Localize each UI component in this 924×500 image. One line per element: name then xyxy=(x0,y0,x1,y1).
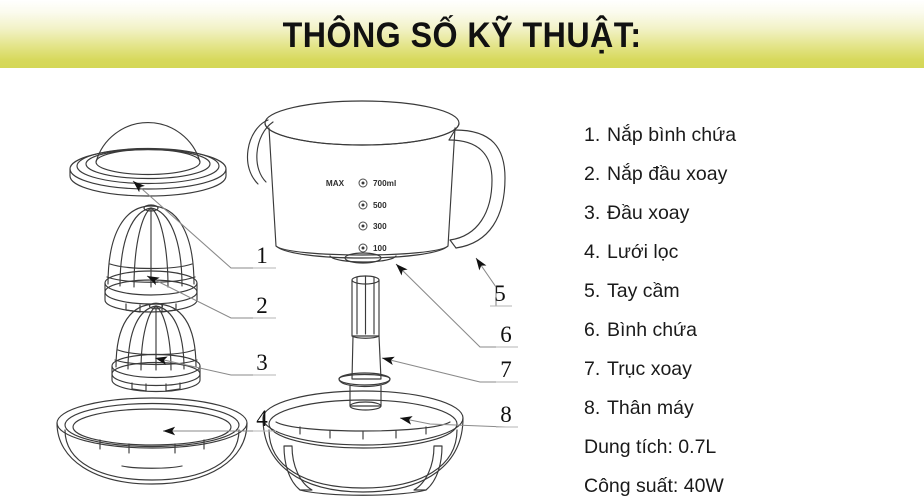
spec-item-8: 8. Thân máy xyxy=(584,389,914,428)
spec-item-2: 2. Nắp đầu xoay xyxy=(584,155,914,194)
spec-item-2-label: Nắp đầu xoay xyxy=(607,165,727,185)
part-lid-dome xyxy=(70,123,226,196)
spec-item-5-label: Tay cầm xyxy=(607,282,680,302)
callout-number-5: 5 xyxy=(494,281,506,306)
page-body: MAX 700ml 500 300 100 xyxy=(0,68,924,500)
part-motor-base xyxy=(263,391,463,495)
callout-underlines xyxy=(253,268,518,431)
callout-number-7: 7 xyxy=(500,357,512,382)
spec-item-3-label: Đầu xoay xyxy=(607,204,689,224)
spec-capacity-label: Dung tích: 0.7L xyxy=(584,438,716,458)
spec-item-7-label: Trục xoay xyxy=(607,360,692,380)
spec-item-8-label: Thân máy xyxy=(607,399,694,419)
spec-item-1-number: 1. xyxy=(584,126,607,146)
callout-number-1: 1 xyxy=(256,243,268,268)
specification-list: 1. Nắp bình chứa 2. Nắp đầu xoay 3. Đầu … xyxy=(584,116,914,500)
scale-value-700: 700ml xyxy=(373,179,396,188)
page-title: THÔNG SỐ KỸ THUẬT: xyxy=(283,18,642,53)
spec-item-7: 7. Trục xoay xyxy=(584,350,914,389)
juicer-diagram-svg: MAX 700ml 500 300 100 xyxy=(0,68,560,500)
spec-item-6-number: 6. xyxy=(584,321,607,341)
page-header-banner: THÔNG SỐ KỸ THUẬT: xyxy=(0,0,924,68)
spec-item-2-number: 2. xyxy=(584,165,607,185)
product-spec-page: THÔNG SỐ KỸ THUẬT: xyxy=(0,0,924,500)
scale-max-label: MAX xyxy=(326,179,345,188)
spec-item-4-label: Lưới lọc xyxy=(607,243,678,263)
scale-value-500: 500 xyxy=(373,201,387,210)
spec-item-1-label: Nắp bình chứa xyxy=(607,126,736,146)
spec-item-1: 1. Nắp bình chứa xyxy=(584,116,914,155)
spec-item-6: 6. Bình chứa xyxy=(584,311,914,350)
spec-item-5: 5. Tay cầm xyxy=(584,272,914,311)
spec-power-label: Công suất: 40W xyxy=(584,477,724,497)
part-strainer-bowl xyxy=(57,398,247,484)
spec-item-6-label: Bình chứa xyxy=(607,321,697,341)
part-reamer-cone-large xyxy=(105,205,197,312)
scale-value-100: 100 xyxy=(373,244,387,253)
callout-number-3: 3 xyxy=(256,350,268,375)
callout-number-6: 6 xyxy=(500,322,512,347)
spec-power: Công suất: 40W xyxy=(584,467,914,500)
spec-item-7-number: 7. xyxy=(584,360,607,380)
callout-number-2: 2 xyxy=(256,293,268,318)
spec-item-4: 4. Lưới lọc xyxy=(584,233,914,272)
spec-item-3-number: 3. xyxy=(584,204,607,224)
part-drive-shaft xyxy=(339,276,390,410)
callout-number-8: 8 xyxy=(500,402,512,427)
exploded-diagram: MAX 700ml 500 300 100 xyxy=(0,68,560,500)
spec-capacity: Dung tích: 0.7L xyxy=(584,428,914,467)
spec-item-4-number: 4. xyxy=(584,243,607,263)
spec-item-3: 3. Đầu xoay xyxy=(584,194,914,233)
part-reamer-cone-small xyxy=(112,303,200,391)
scale-value-300: 300 xyxy=(373,222,387,231)
spec-item-5-number: 5. xyxy=(584,282,607,302)
callout-number-4: 4 xyxy=(256,406,268,431)
spec-item-8-number: 8. xyxy=(584,399,607,419)
pitcher-scale-marks: MAX 700ml 500 300 100 xyxy=(326,179,396,253)
